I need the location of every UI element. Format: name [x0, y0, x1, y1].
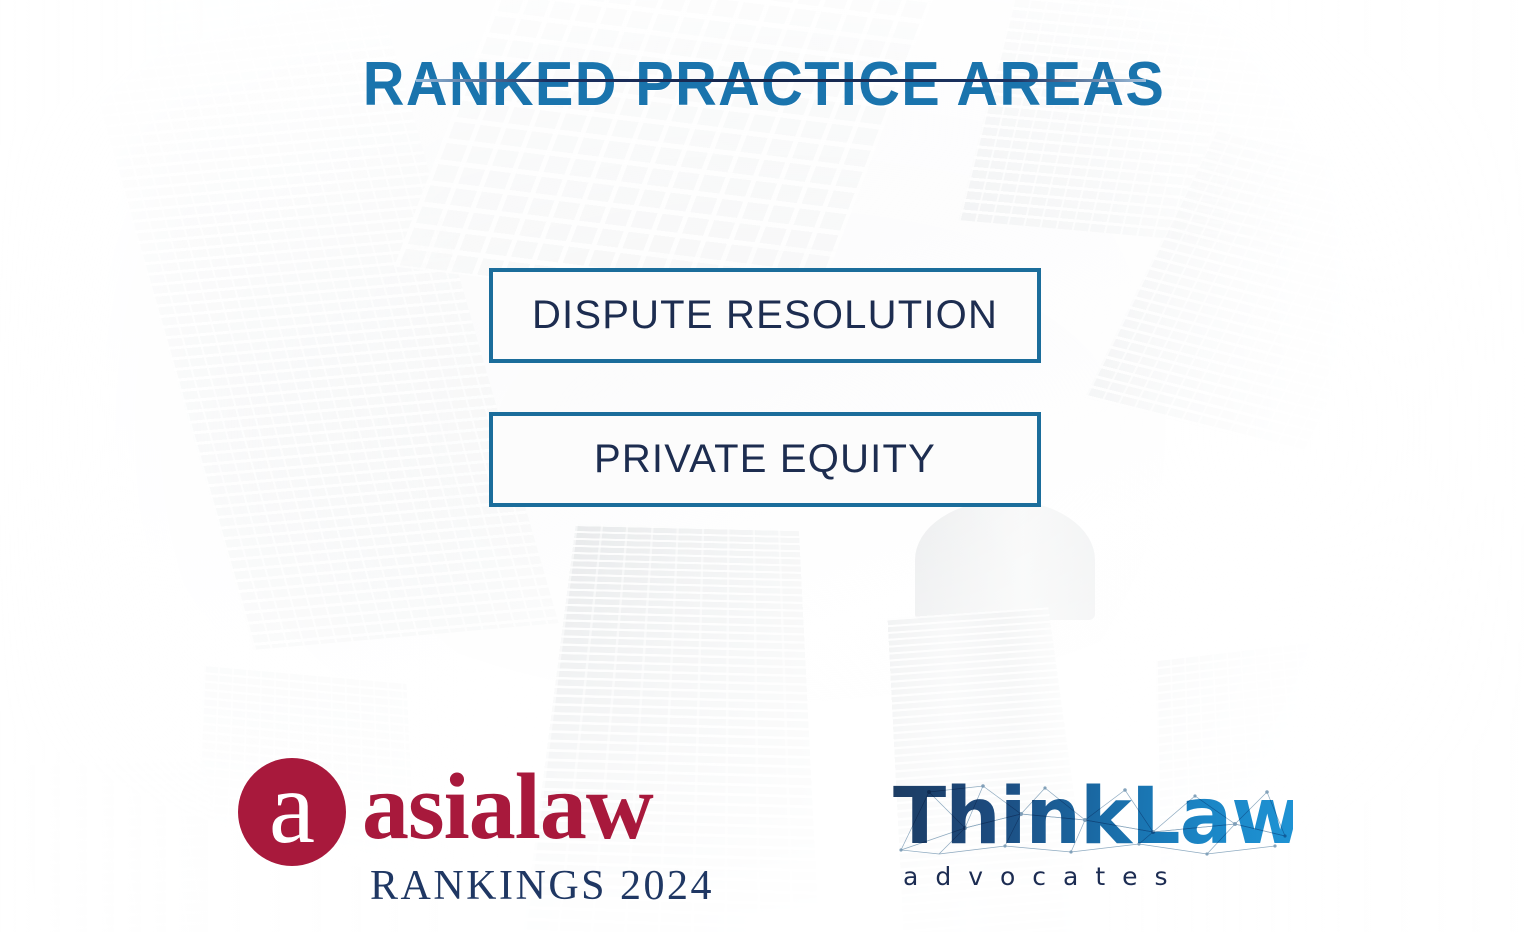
practice-areas-list: DISPUTE RESOLUTION PRIVATE EQUITY	[489, 268, 1041, 556]
thinklaw-logo: ThinkLaw	[893, 778, 1293, 918]
asialaw-circle-a-icon: a	[238, 758, 346, 866]
background-building	[12, 758, 238, 932]
page-title-container: RANKED PRACTICE AREAS	[0, 54, 1528, 116]
ranked-practice-areas-slide: RANKED PRACTICE AREAS DISPUTE RESOLUTION…	[0, 0, 1528, 932]
practice-area-box-private-equity[interactable]: PRIVATE EQUITY	[489, 412, 1041, 507]
asialaw-rankings-subtitle: RANKINGS 2024	[370, 862, 714, 910]
asialaw-logo: a asialaw RANKINGS 2024	[238, 752, 668, 912]
title-underline-divider	[416, 79, 1146, 82]
asialaw-wordmark: asialaw	[362, 760, 653, 854]
background-building	[1085, 128, 1435, 452]
practice-area-label: PRIVATE EQUITY	[594, 437, 936, 482]
practice-area-box-dispute-resolution[interactable]: DISPUTE RESOLUTION	[489, 268, 1041, 363]
practice-area-label: DISPUTE RESOLUTION	[532, 293, 998, 338]
thinklaw-wordmark: ThinkLaw	[893, 778, 1293, 856]
background-building	[959, 0, 1382, 250]
page-title: RANKED PRACTICE AREAS	[53, 54, 1474, 116]
thinklaw-advocates-subtitle: advocates	[903, 862, 1185, 891]
